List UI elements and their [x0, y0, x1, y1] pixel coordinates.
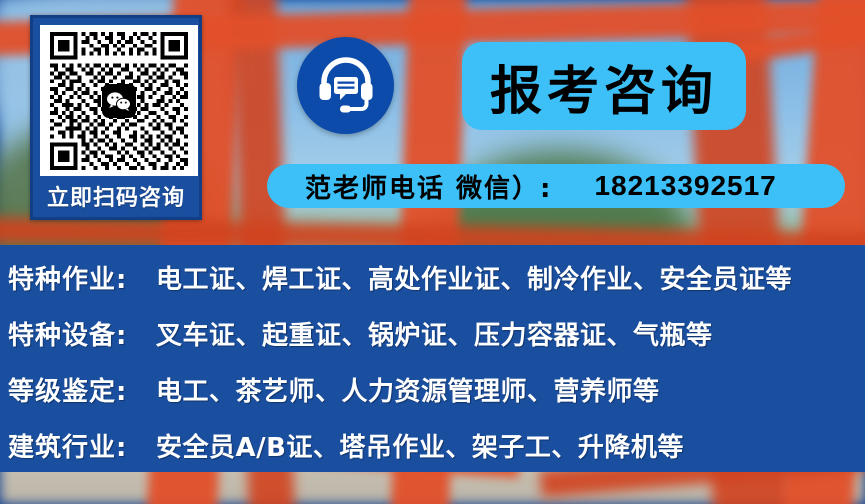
list-item: 特种作业: 电工证、焊工证、高处作业证、制冷作业、安全员证等 [0, 254, 865, 301]
category-label: 特种设备: [8, 315, 156, 352]
category-label: 特种作业: [8, 259, 156, 296]
contact-phone-number[interactable]: 18213392517 [594, 170, 776, 202]
banner-title: 报考咨询 [490, 49, 718, 124]
contact-label: 范老师电话 微信）: [305, 168, 552, 205]
wechat-glyph [106, 91, 132, 111]
promo-poster: 立即扫码咨询 报考咨询 范老师电话 微信）: 18213392517 特种作业:… [0, 0, 865, 504]
list-item: 特种设备: 叉车证、起重证、锅炉证、压力容器证、气瓶等 [0, 310, 865, 357]
headset-support-icon[interactable] [297, 37, 394, 134]
contact-pill[interactable]: 范老师电话 微信）: 18213392517 [267, 164, 845, 208]
wechat-icon [102, 84, 136, 118]
category-value: 安全员A/B证、塔吊作业、架子工、升降机等 [156, 427, 684, 464]
qr-code-card[interactable]: 立即扫码咨询 [30, 15, 202, 220]
list-item: 建筑行业: 安全员A/B证、塔吊作业、架子工、升降机等 [0, 422, 865, 469]
certificate-list-band: 特种作业: 电工证、焊工证、高处作业证、制冷作业、安全员证等 特种设备: 叉车证… [0, 245, 865, 472]
category-value: 电工证、焊工证、高处作业证、制冷作业、安全员证等 [156, 259, 792, 296]
headset-glyph [315, 56, 377, 116]
consultation-banner[interactable]: 报考咨询 [462, 42, 746, 130]
category-label: 等级鉴定: [8, 371, 156, 408]
qr-code-image [45, 28, 193, 174]
category-value: 叉车证、起重证、锅炉证、压力容器证、气瓶等 [156, 315, 713, 352]
category-label: 建筑行业: [8, 427, 156, 464]
qr-caption: 立即扫码咨询 [40, 176, 192, 222]
qr-code-frame [40, 25, 198, 176]
list-item: 等级鉴定: 电工、茶艺师、人力资源管理师、营养师等 [0, 366, 865, 413]
category-value: 电工、茶艺师、人力资源管理师、营养师等 [156, 371, 660, 408]
